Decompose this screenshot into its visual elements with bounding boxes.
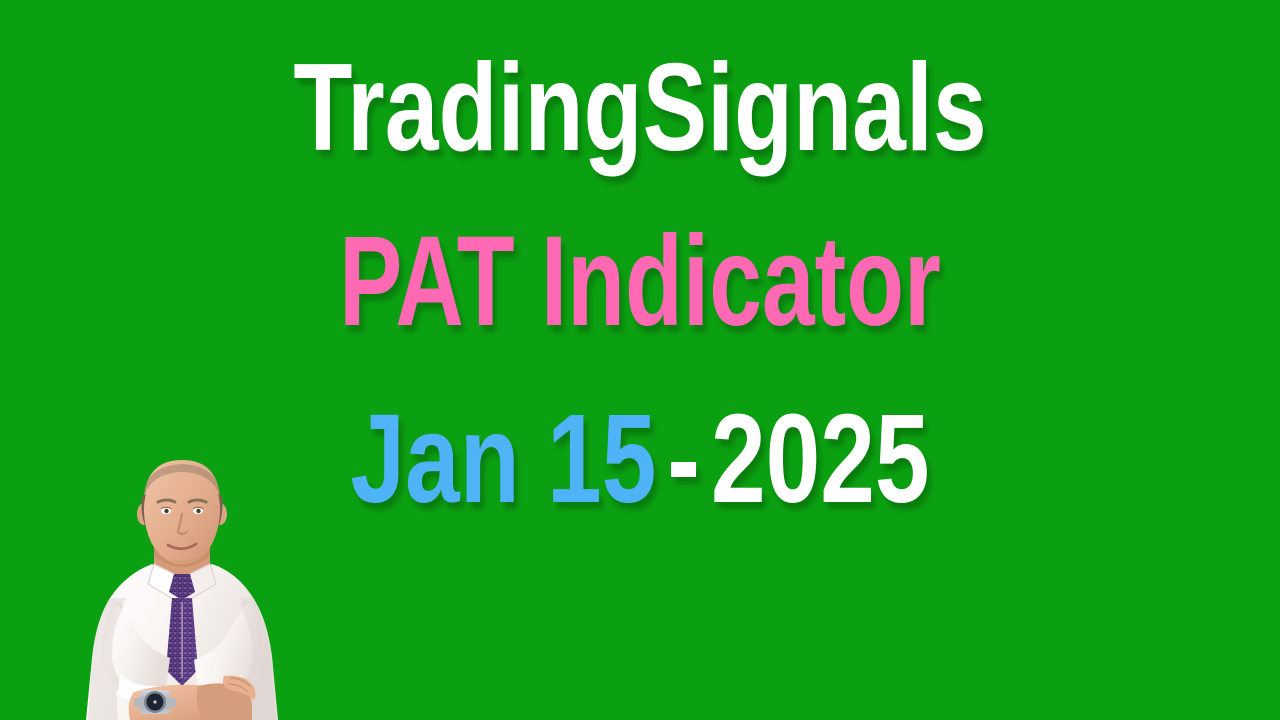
wristwatch [134,690,176,714]
date-separator: - [656,388,711,529]
brand-title: TradingSignals [141,46,1139,170]
thumbnail-canvas: TradingSignals PAT Indicator Jan 15-2025 [0,0,1280,720]
date-year-part: 2025 [711,388,930,529]
presenter-photo [74,452,290,720]
date-line: Jan 15-2025 [141,396,1139,522]
date-day-part: Jan 15 [350,388,656,529]
product-title: PAT Indicator [166,218,1113,346]
